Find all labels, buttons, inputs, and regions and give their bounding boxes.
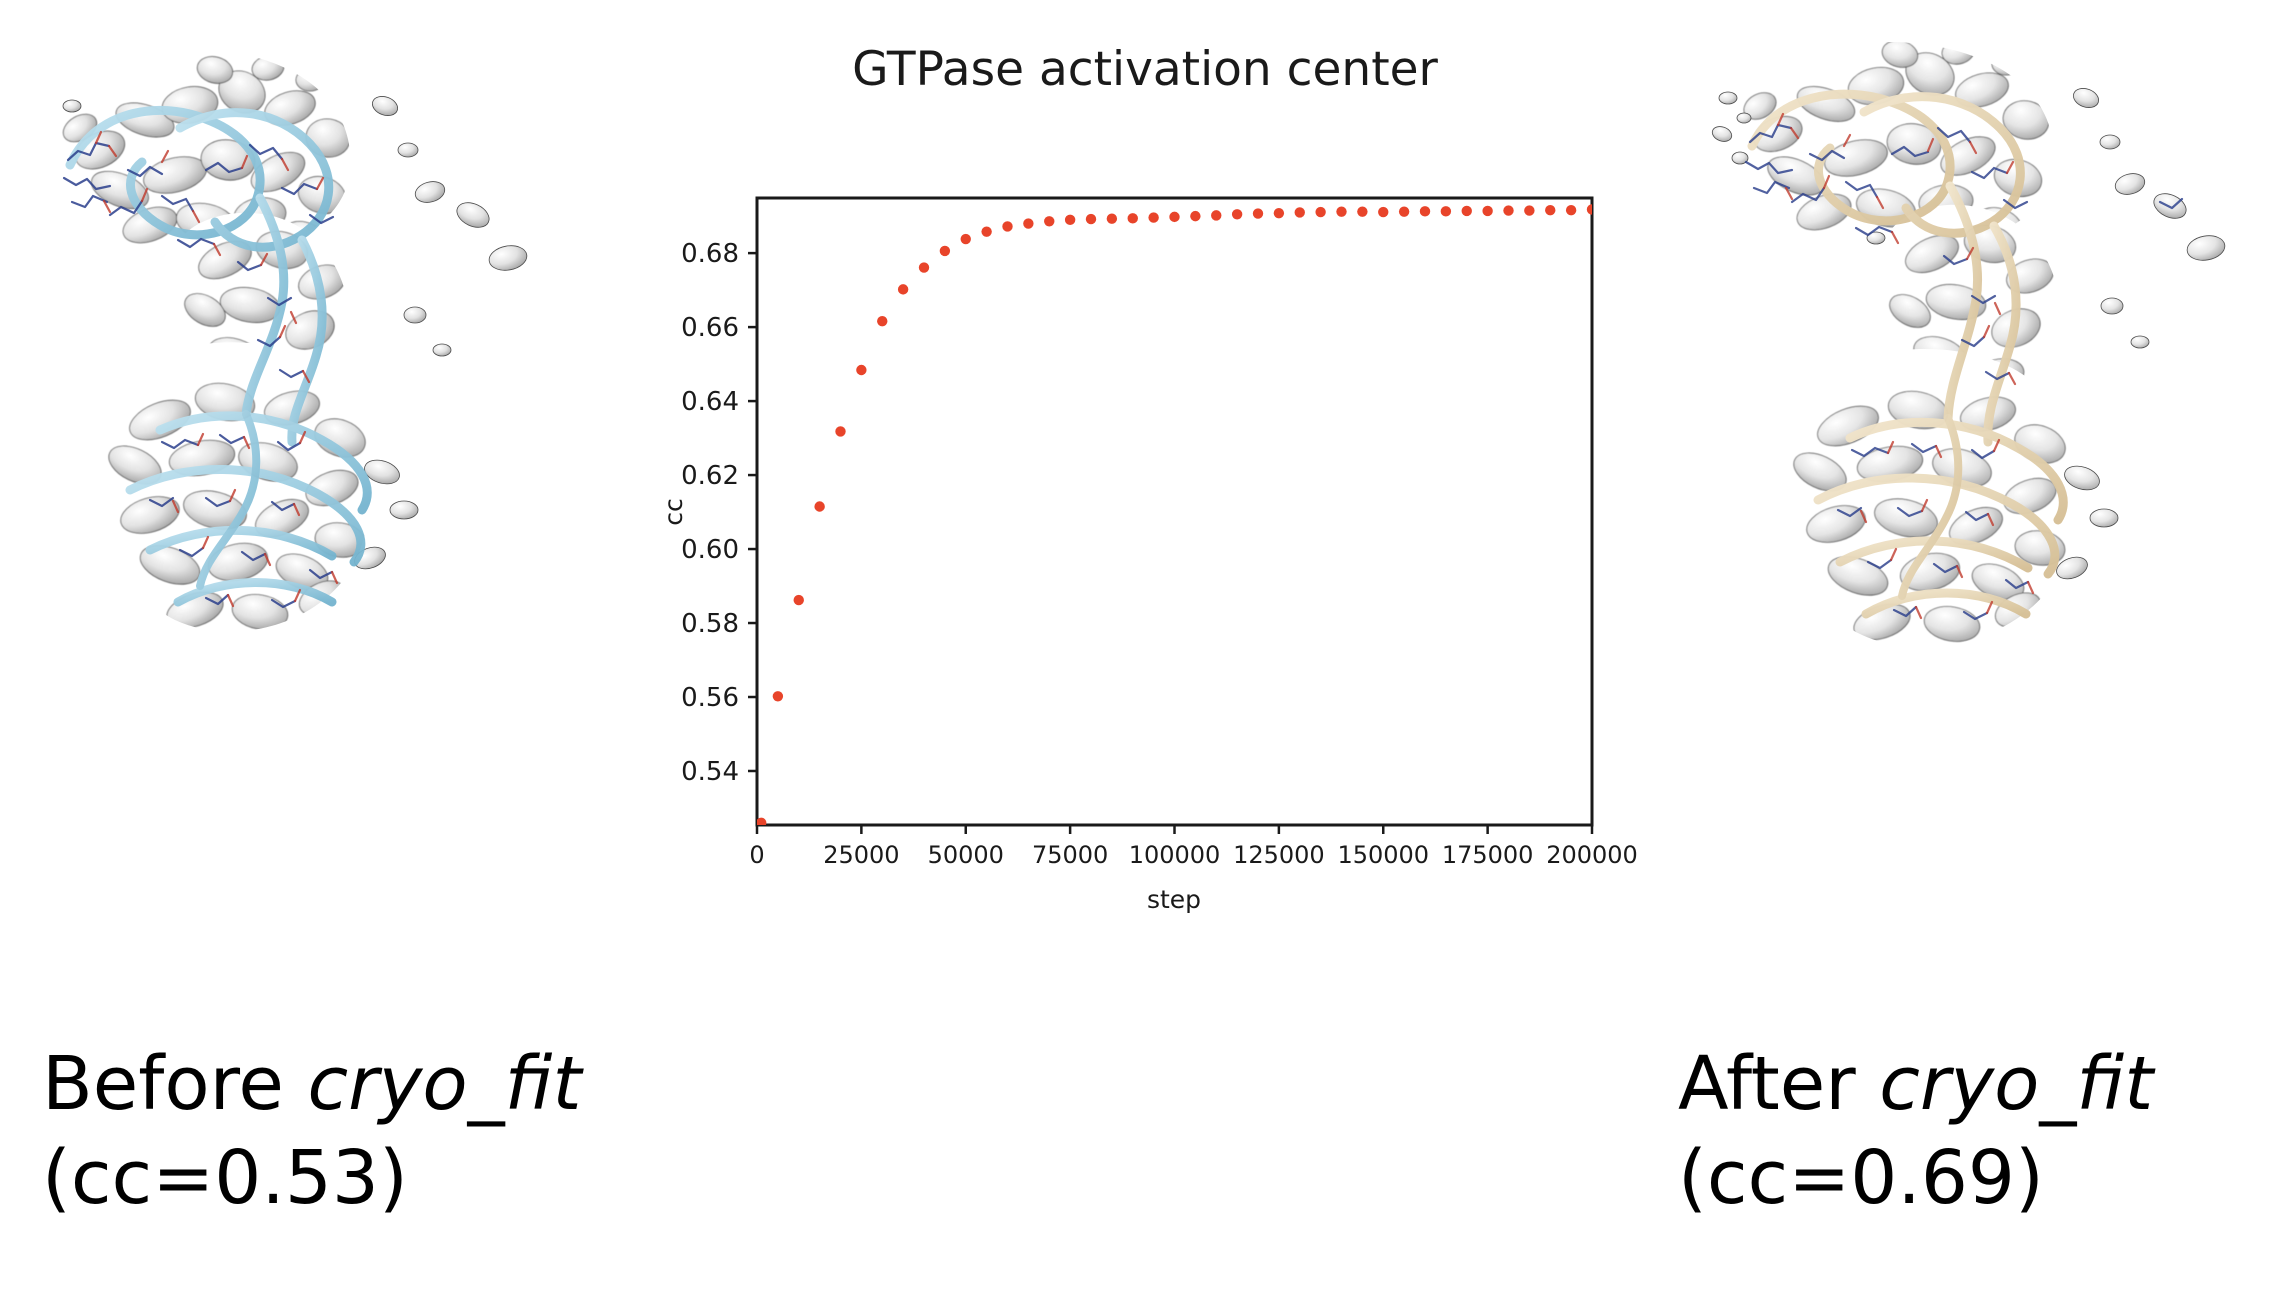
x-tick-label: 175000 — [1442, 841, 1534, 869]
caption-after: After cryo_fit (cc=0.69) — [1678, 1038, 2153, 1226]
data-point — [1524, 205, 1534, 215]
data-point — [814, 501, 824, 511]
y-tick-labels: 0.540.560.580.600.620.640.660.68 — [681, 239, 739, 787]
data-point — [1023, 218, 1033, 228]
x-tick-label: 0 — [749, 841, 764, 869]
data-point — [1336, 206, 1346, 216]
chart-figure: GTPase activation center 025000500007500… — [640, 20, 1650, 930]
data-point — [1545, 205, 1555, 215]
caption-after-tool: cryo_fit — [1879, 1041, 2153, 1127]
data-point — [1044, 216, 1054, 226]
y-tick-label: 0.60 — [681, 535, 739, 565]
data-point — [1211, 210, 1221, 220]
data-point — [835, 426, 845, 436]
y-tick-label: 0.56 — [681, 683, 739, 713]
x-tick-label: 50000 — [928, 841, 1004, 869]
data-point — [1420, 206, 1430, 216]
data-point — [1462, 206, 1472, 216]
data-point — [1399, 206, 1409, 216]
data-point — [1148, 212, 1158, 222]
data-point — [1128, 213, 1138, 223]
x-tick-label: 25000 — [823, 841, 899, 869]
data-point — [1378, 207, 1388, 217]
x-tick-label: 150000 — [1337, 841, 1429, 869]
data-point — [1065, 215, 1075, 225]
data-point — [1002, 221, 1012, 231]
data-point — [1086, 214, 1096, 224]
data-point — [1107, 214, 1117, 224]
y-axis-label: cc — [659, 498, 688, 526]
data-point — [1190, 211, 1200, 221]
data-point — [1232, 209, 1242, 219]
y-tick-label: 0.68 — [681, 239, 739, 269]
x-tick-label: 125000 — [1233, 841, 1325, 869]
molecule-before-svg — [10, 10, 570, 680]
x-tick-label: 100000 — [1129, 841, 1221, 869]
scatter-plot: 0250005000075000100000125000150000175000… — [640, 20, 1650, 930]
y-tick-label: 0.54 — [681, 757, 739, 787]
molecule-after-svg — [1700, 6, 2260, 686]
data-point — [981, 226, 991, 236]
y-tick-label: 0.64 — [681, 387, 739, 417]
data-point — [877, 316, 887, 326]
data-point — [794, 595, 804, 605]
data-point — [961, 234, 971, 244]
data-point — [1566, 205, 1576, 215]
data-point — [1482, 206, 1492, 216]
data-point — [1357, 206, 1367, 216]
x-tick-label: 200000 — [1546, 841, 1638, 869]
x-axis-label: step — [1147, 885, 1201, 914]
data-point — [1315, 207, 1325, 217]
data-point — [898, 284, 908, 294]
caption-after-cc: (cc=0.69) — [1678, 1132, 2153, 1226]
caption-after-prefix: After — [1678, 1041, 1879, 1127]
y-tick-label: 0.58 — [681, 609, 739, 639]
data-point — [1295, 207, 1305, 217]
data-point — [940, 246, 950, 256]
y-tick-label: 0.62 — [681, 461, 739, 491]
data-point — [919, 262, 929, 272]
data-point — [1169, 212, 1179, 222]
axes-frame — [757, 198, 1592, 825]
x-tick-label: 75000 — [1032, 841, 1108, 869]
data-point — [1253, 208, 1263, 218]
x-tick-labels: 0250005000075000100000125000150000175000… — [749, 841, 1637, 869]
data-point — [856, 365, 866, 375]
data-point — [773, 691, 783, 701]
y-tick-label: 0.66 — [681, 313, 739, 343]
data-point — [1441, 206, 1451, 216]
molecule-render-before — [10, 10, 570, 680]
caption-before-cc: (cc=0.53) — [42, 1132, 581, 1226]
molecule-render-after — [1700, 6, 2260, 686]
caption-before-prefix: Before — [42, 1041, 307, 1127]
data-point — [1274, 208, 1284, 218]
data-point — [1587, 204, 1597, 214]
caption-before: Before cryo_fit (cc=0.53) — [42, 1038, 581, 1226]
caption-before-tool: cryo_fit — [307, 1041, 581, 1127]
data-point — [1503, 205, 1513, 215]
